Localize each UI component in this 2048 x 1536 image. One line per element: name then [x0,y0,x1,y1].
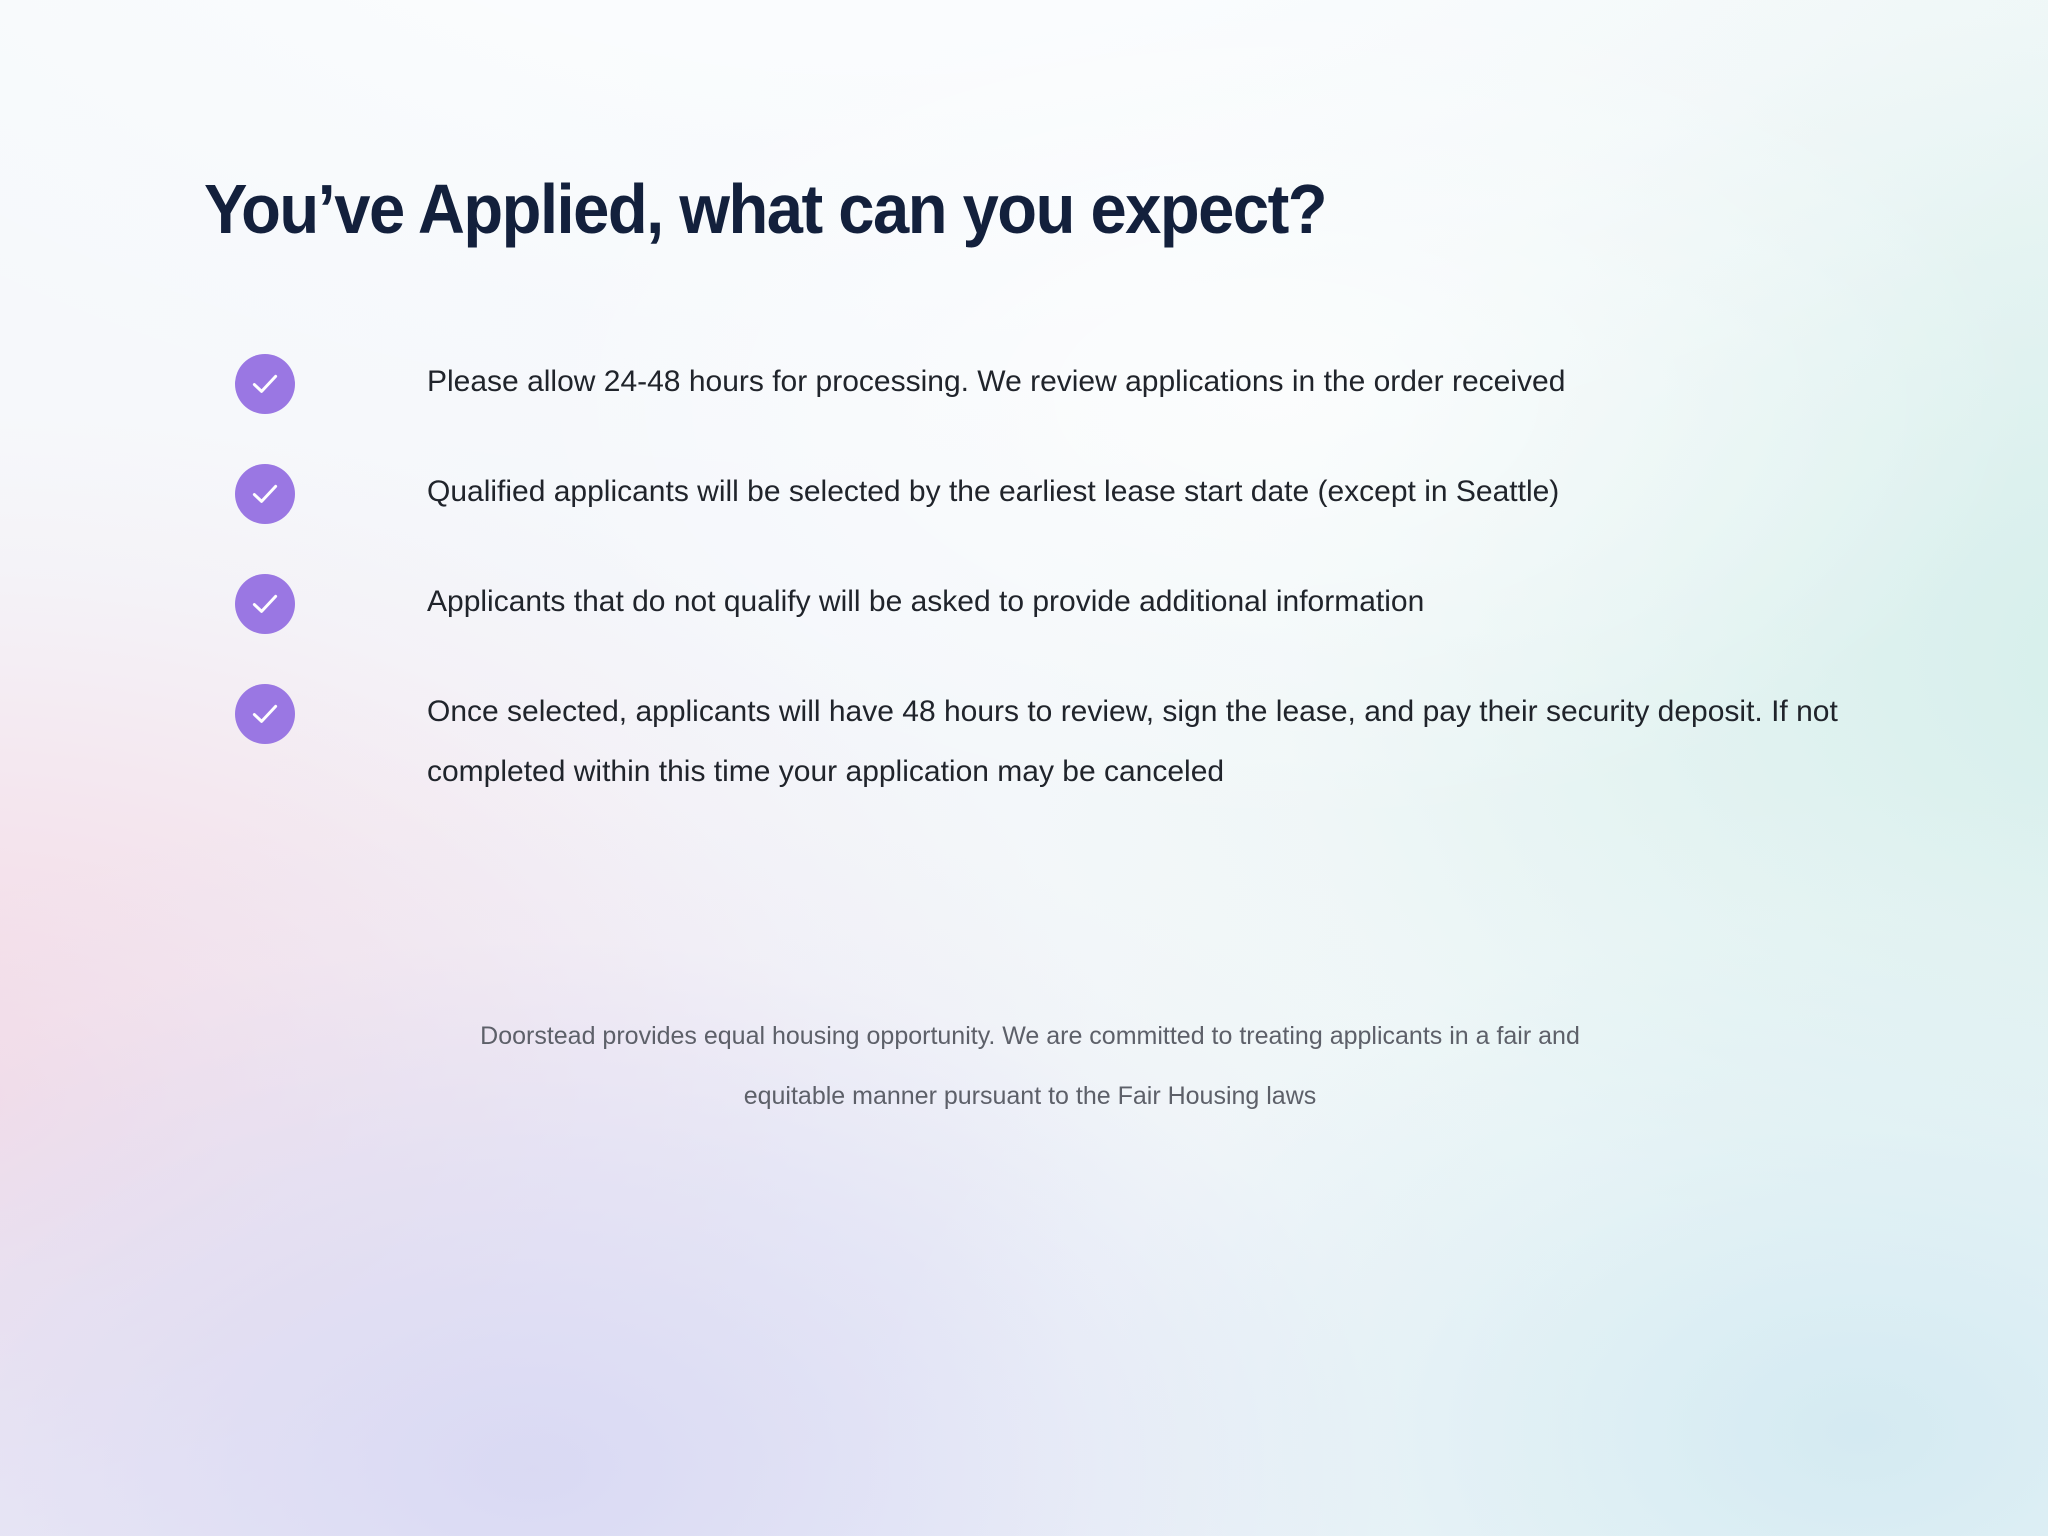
disclaimer-line-1: Doorstead provides equal housing opportu… [240,1006,1820,1066]
check-circle-icon [235,464,295,524]
page-content: You’ve Applied, what can you expect? Ple… [0,0,2048,1536]
page-title: You’ve Applied, what can you expect? [204,169,1326,249]
list-item: Once selected, applicants will have 48 h… [235,682,1915,802]
list-item-label: Qualified applicants will be selected by… [427,462,1915,522]
check-circle-icon [235,684,295,744]
list-item-label: Once selected, applicants will have 48 h… [427,682,1915,802]
list-item: Please allow 24-48 hours for processing.… [235,352,1915,414]
fair-housing-disclaimer: Doorstead provides equal housing opportu… [240,1006,1820,1126]
list-item: Applicants that do not qualify will be a… [235,572,1915,634]
check-circle-icon [235,354,295,414]
list-item-label: Please allow 24-48 hours for processing.… [427,352,1915,412]
list-item-label: Applicants that do not qualify will be a… [427,572,1915,632]
list-item: Qualified applicants will be selected by… [235,462,1915,524]
disclaimer-line-2: equitable manner pursuant to the Fair Ho… [240,1066,1820,1126]
check-circle-icon [235,574,295,634]
expectations-checklist: Please allow 24-48 hours for processing.… [235,352,1915,802]
